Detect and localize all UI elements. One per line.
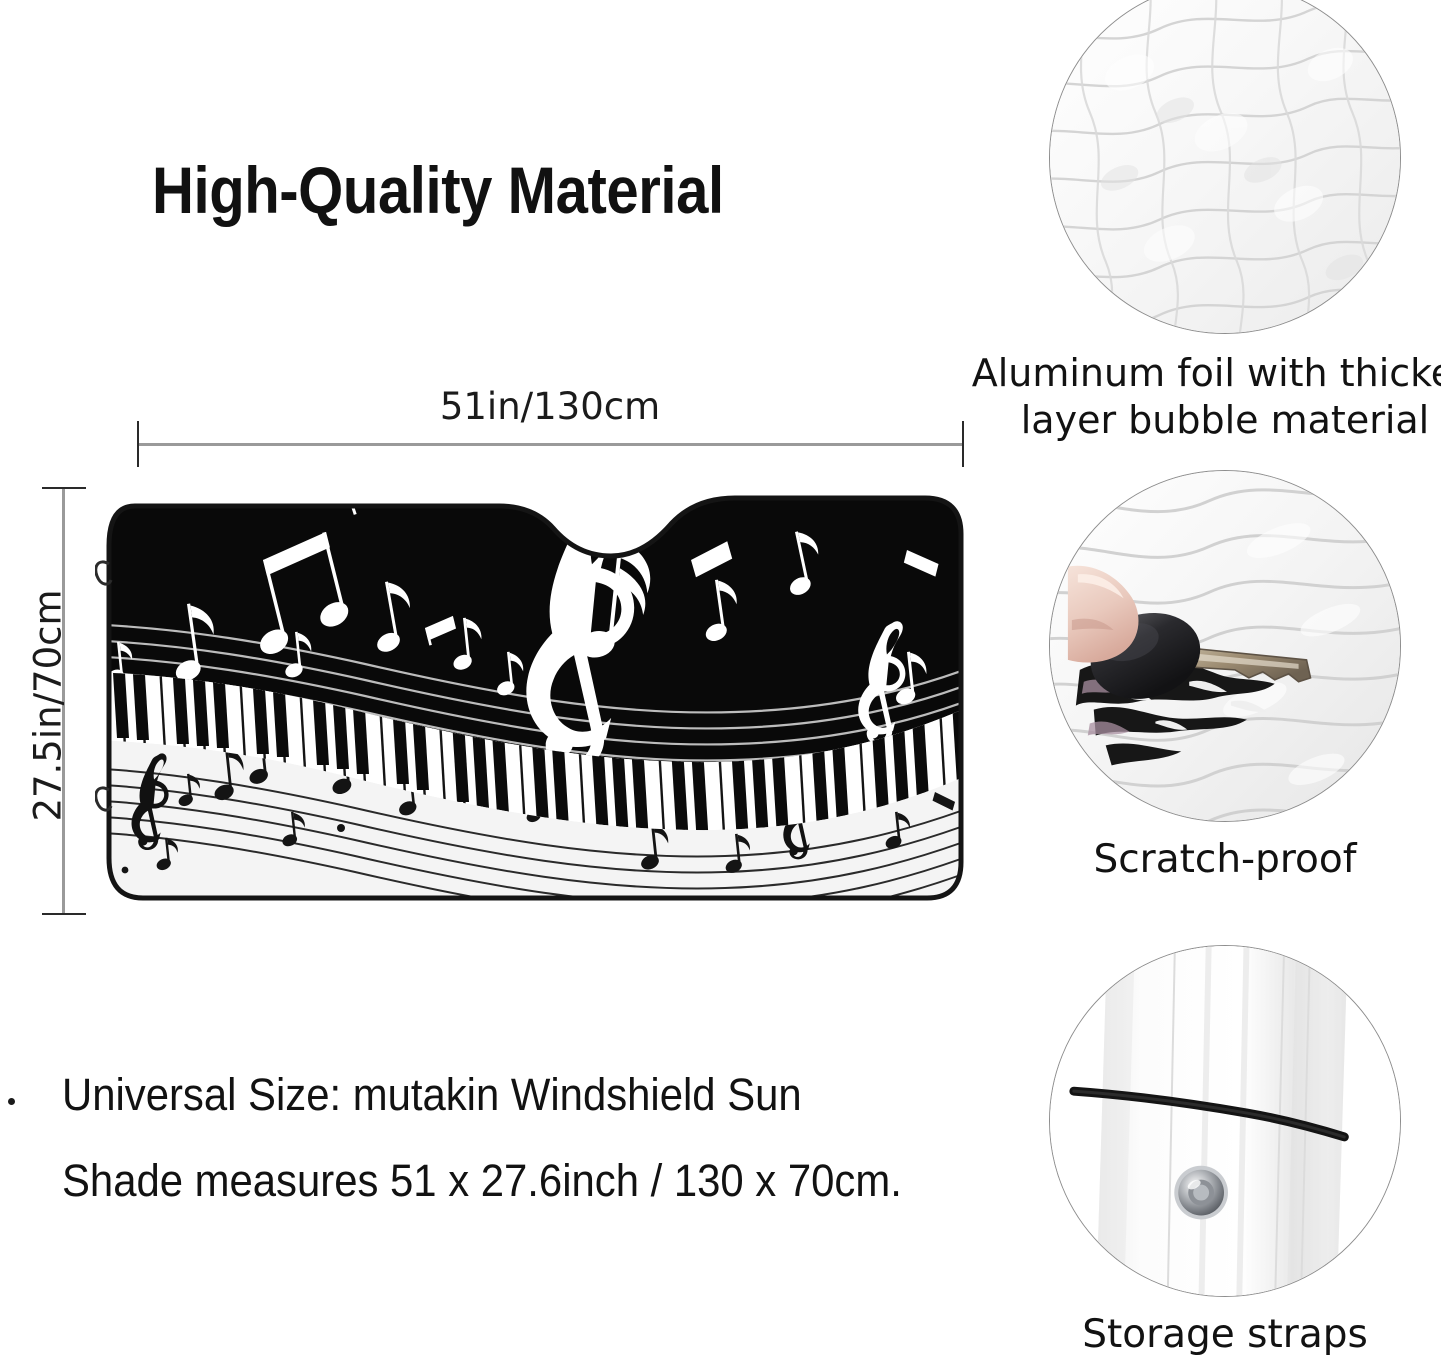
width-dimension-label: 51in/130cm (130, 385, 970, 428)
height-dimension-label: 27.5in/70cm (27, 496, 70, 916)
snap-button-icon (1174, 1166, 1228, 1220)
storage-strap-svg (1050, 946, 1400, 1296)
feature-caption-aluminum-foil: Aluminum foil with thicken layer bubble … (960, 350, 1441, 444)
feature-scratch-proof: Scratch-proof (1010, 470, 1440, 882)
bubble-foil-texture-photo (1049, 0, 1401, 334)
caption-line-2: layer bubble material (1021, 398, 1429, 442)
size-description: Universal Size: mutakin Windshield Sun S… (62, 1052, 1052, 1224)
key-scratching-foil-photo (1049, 470, 1401, 822)
height-dimension-cap-top (42, 487, 86, 489)
caption-line-1: Scratch-proof (1093, 837, 1356, 882)
size-description-line-1: Universal Size: mutakin Windshield Sun (62, 1052, 983, 1138)
edge-speck (8, 1098, 15, 1105)
page-title: High-Quality Material (152, 152, 724, 228)
size-description-line-2: Shade measures 51 x 27.6inch / 130 x 70c… (62, 1138, 983, 1224)
feature-caption-scratch-proof: Scratch-proof (1010, 838, 1440, 882)
feature-caption-storage-straps: Storage straps (1010, 1313, 1440, 1357)
bubble-foil-svg (1050, 0, 1400, 333)
caption-line-1: Aluminum foil with thicken (972, 351, 1441, 395)
sunshade-illustration (95, 472, 975, 932)
rolled-shade-with-strap-photo (1049, 945, 1401, 1297)
width-dimension-cap-left (137, 421, 139, 467)
feature-storage-straps: Storage straps (1010, 945, 1440, 1357)
scratch-test-svg (1050, 471, 1400, 821)
product-infographic: High-Quality Material 51in/130cm 27.5in/… (0, 0, 1441, 1358)
feature-aluminum-foil: Aluminum foil with thicken layer bubble … (1010, 0, 1440, 334)
width-dimension-line (137, 443, 964, 446)
product-image (95, 472, 975, 932)
caption-line-1: Storage straps (1082, 1312, 1368, 1357)
